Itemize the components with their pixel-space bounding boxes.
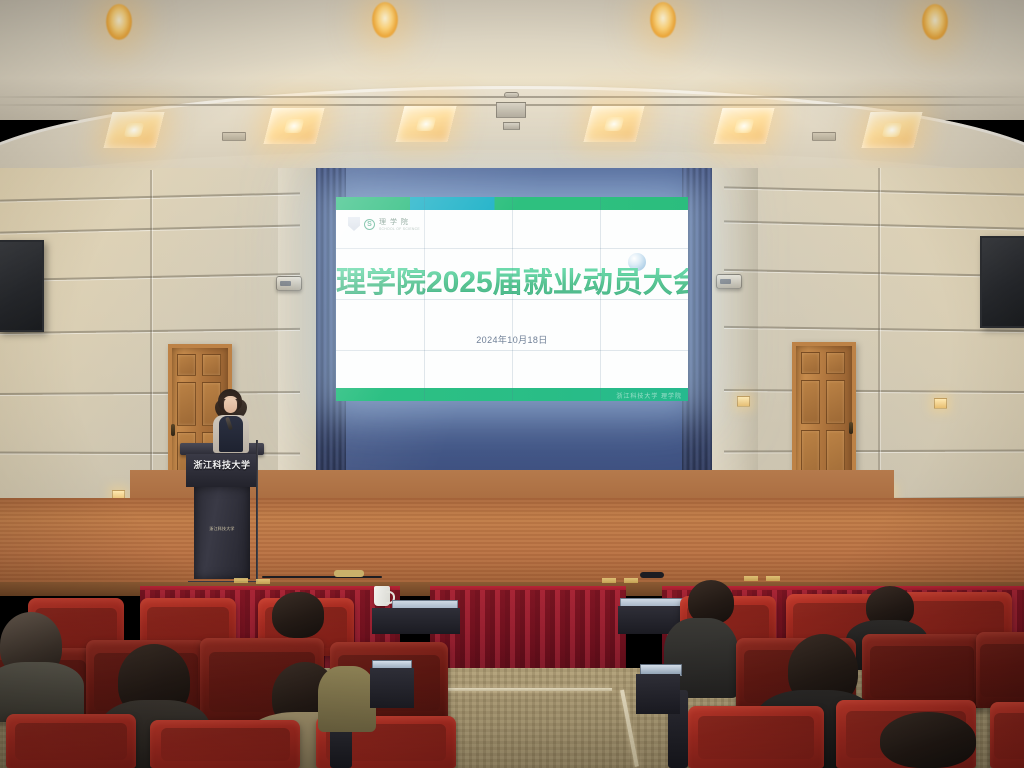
door-panel	[826, 380, 845, 424]
audience-head	[272, 592, 324, 638]
seat[interactable]	[6, 714, 136, 768]
ceiling-square-light-1	[104, 112, 165, 148]
desk-panel-left	[372, 608, 460, 634]
floor-tape-marker	[602, 578, 616, 583]
podium-emblem-label: 浙江科技大学	[209, 526, 234, 531]
ceiling-round-light-4	[922, 4, 948, 40]
light-core	[284, 119, 304, 133]
wall-uplight-left-upper	[737, 396, 750, 407]
light-core	[416, 117, 436, 131]
door-panel	[801, 352, 820, 374]
led-tile-seam	[336, 248, 688, 249]
wall-vertical-seam	[150, 170, 152, 500]
floor-tape-marker	[234, 578, 248, 583]
ceiling-round-light-2	[372, 2, 398, 38]
light-core	[734, 119, 754, 133]
slide-logo-subtitle: SCHOOL OF SCIENCE	[379, 227, 420, 231]
presenter-vest	[219, 416, 243, 452]
podium: 浙江科技大学 浙江科技大学	[182, 443, 262, 583]
ceiling-vent-left	[222, 132, 246, 141]
seat-side-panel	[370, 668, 414, 708]
door-panel	[826, 352, 845, 374]
wall-monitor-left	[0, 240, 44, 332]
door-handle[interactable]	[849, 422, 853, 434]
seat[interactable]	[990, 702, 1024, 768]
wall-vertical-seam	[878, 168, 880, 498]
slide-logo-name: 理 学 院	[379, 219, 409, 226]
ceiling-square-light-4	[584, 106, 645, 142]
door-panel	[202, 354, 221, 376]
presenter	[210, 389, 252, 451]
school-seal-icon: S	[364, 219, 375, 230]
door-panel	[801, 380, 820, 424]
seat[interactable]	[150, 720, 300, 768]
stage-cable-2	[334, 570, 364, 577]
ceiling-sensor	[504, 92, 519, 98]
floor-tape-marker	[256, 579, 270, 584]
wall-monitor-right	[980, 236, 1024, 328]
stage-cable-3	[640, 572, 664, 578]
ceiling-square-light-5	[714, 108, 775, 144]
slide-logo-label: 理 学 院 SCHOOL OF SCIENCE	[379, 217, 420, 231]
seat[interactable]	[688, 706, 824, 768]
auditorium-scene: S 理 学 院 SCHOOL OF SCIENCE 理学院2025届就业动员大会…	[0, 0, 1024, 768]
slide-footer-text: 浙江科技大学 理学院	[616, 391, 682, 400]
slide-logo: S 理 学 院 SCHOOL OF SCIENCE	[348, 217, 420, 231]
wall-projector-left	[276, 276, 302, 291]
seat[interactable]	[862, 634, 982, 708]
ceiling-vent-right	[812, 132, 836, 141]
seat-side-panel	[636, 674, 680, 714]
podium-body: 浙江科技大学	[194, 487, 250, 579]
wall-projector-right	[716, 274, 742, 289]
ceiling-square-light-6	[862, 112, 923, 148]
led-tile-seam	[336, 299, 688, 300]
ceiling-projector-mount	[503, 122, 520, 130]
seat[interactable]	[976, 632, 1024, 708]
ceiling-square-light-2	[264, 108, 325, 144]
door-panel	[177, 382, 196, 426]
wall-uplight-right-outer	[934, 398, 947, 409]
audience-shoulders	[0, 662, 84, 722]
audience-head	[880, 712, 976, 768]
coffee-mug	[374, 586, 390, 606]
floor-tape-marker	[624, 578, 638, 583]
presenter-face	[224, 398, 237, 413]
microphone-cable	[256, 440, 258, 584]
light-core	[604, 117, 624, 131]
ceiling-round-light-3	[650, 2, 676, 38]
stage-cable-1	[262, 576, 382, 578]
door-handle[interactable]	[171, 424, 175, 436]
audience-shoulders	[318, 666, 376, 732]
floor-tape-marker	[766, 576, 780, 581]
led-tile-seam	[336, 350, 688, 351]
led-video-wall[interactable]: S 理 学 院 SCHOOL OF SCIENCE 理学院2025届就业动员大会…	[336, 197, 688, 401]
podium-label: 浙江科技大学	[186, 458, 258, 471]
podium-emblem: 浙江科技大学	[205, 517, 239, 535]
light-core	[124, 123, 144, 137]
ceiling-round-light-1	[106, 4, 132, 40]
ceiling-square-light-3	[396, 106, 457, 142]
presentation-slide: S 理 学 院 SCHOOL OF SCIENCE 理学院2025届就业动员大会…	[336, 197, 688, 401]
floor-tape-marker	[744, 576, 758, 581]
light-core	[882, 123, 902, 137]
podium-front-panel: 浙江科技大学	[186, 454, 258, 487]
ceiling-projector	[496, 102, 526, 118]
stage-front-facade	[0, 498, 1024, 588]
shield-icon	[348, 217, 360, 231]
door-panel	[177, 354, 196, 376]
